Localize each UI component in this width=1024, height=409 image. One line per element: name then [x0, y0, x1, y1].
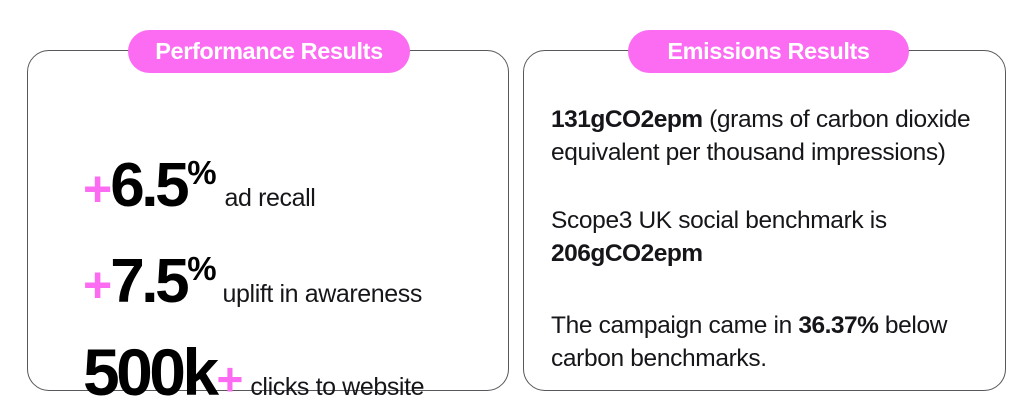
- stat-label-clicks: clicks to website: [250, 375, 424, 400]
- benchmark-lead-text: Scope3 UK social benchmark is: [551, 207, 887, 234]
- emissions-badge-label: Emissions Results: [667, 38, 869, 65]
- plus-sign-icon: +: [83, 260, 110, 310]
- stat-label-awareness: uplift in awareness: [223, 282, 422, 307]
- emissions-text-block: 131gCO2epm (grams of carbon dioxide equi…: [551, 104, 985, 372]
- stat-value-ad-recall: 6.5: [110, 155, 186, 217]
- performance-stats-list: +6.5% ad recall +7.5% uplift in awarenes…: [83, 123, 492, 380]
- emissions-paragraph-comparison: The campaign came in 36.37% below carbon…: [551, 310, 985, 375]
- comparison-lead-text: The campaign came in: [551, 312, 798, 339]
- stat-label-ad-recall: ad recall: [225, 186, 316, 211]
- comparison-percentage: 36.37%: [798, 312, 878, 339]
- plus-sign-icon: +: [216, 356, 241, 402]
- stat-value-clicks: 500k: [83, 339, 215, 405]
- stat-row-ad-recall: +6.5% ad recall: [83, 155, 492, 217]
- percent-sign-ad-recall: %: [187, 156, 215, 189]
- performance-results-badge: Performance Results: [128, 30, 410, 73]
- plus-sign-icon: +: [83, 164, 110, 214]
- percent-sign-awareness: %: [187, 252, 215, 285]
- emissions-results-card: 131gCO2epm (grams of carbon dioxide equi…: [523, 50, 1006, 391]
- stat-row-clicks: 500k+ clicks to website: [83, 339, 492, 405]
- emissions-results-badge: Emissions Results: [628, 30, 909, 73]
- emissions-paragraph-metric: 131gCO2epm (grams of carbon dioxide equi…: [551, 104, 985, 169]
- results-panel: +6.5% ad recall +7.5% uplift in awarenes…: [0, 0, 1024, 405]
- stat-value-awareness: 7.5: [110, 251, 186, 313]
- emissions-metric-value: 131gCO2epm: [551, 106, 703, 133]
- benchmark-value: 206gCO2epm: [551, 240, 703, 267]
- stat-row-awareness: +7.5% uplift in awareness: [83, 251, 492, 313]
- performance-badge-label: Performance Results: [155, 38, 383, 65]
- performance-results-card: +6.5% ad recall +7.5% uplift in awarenes…: [27, 50, 509, 391]
- emissions-paragraph-benchmark: Scope3 UK social benchmark is 206gCO2epm: [551, 205, 985, 270]
